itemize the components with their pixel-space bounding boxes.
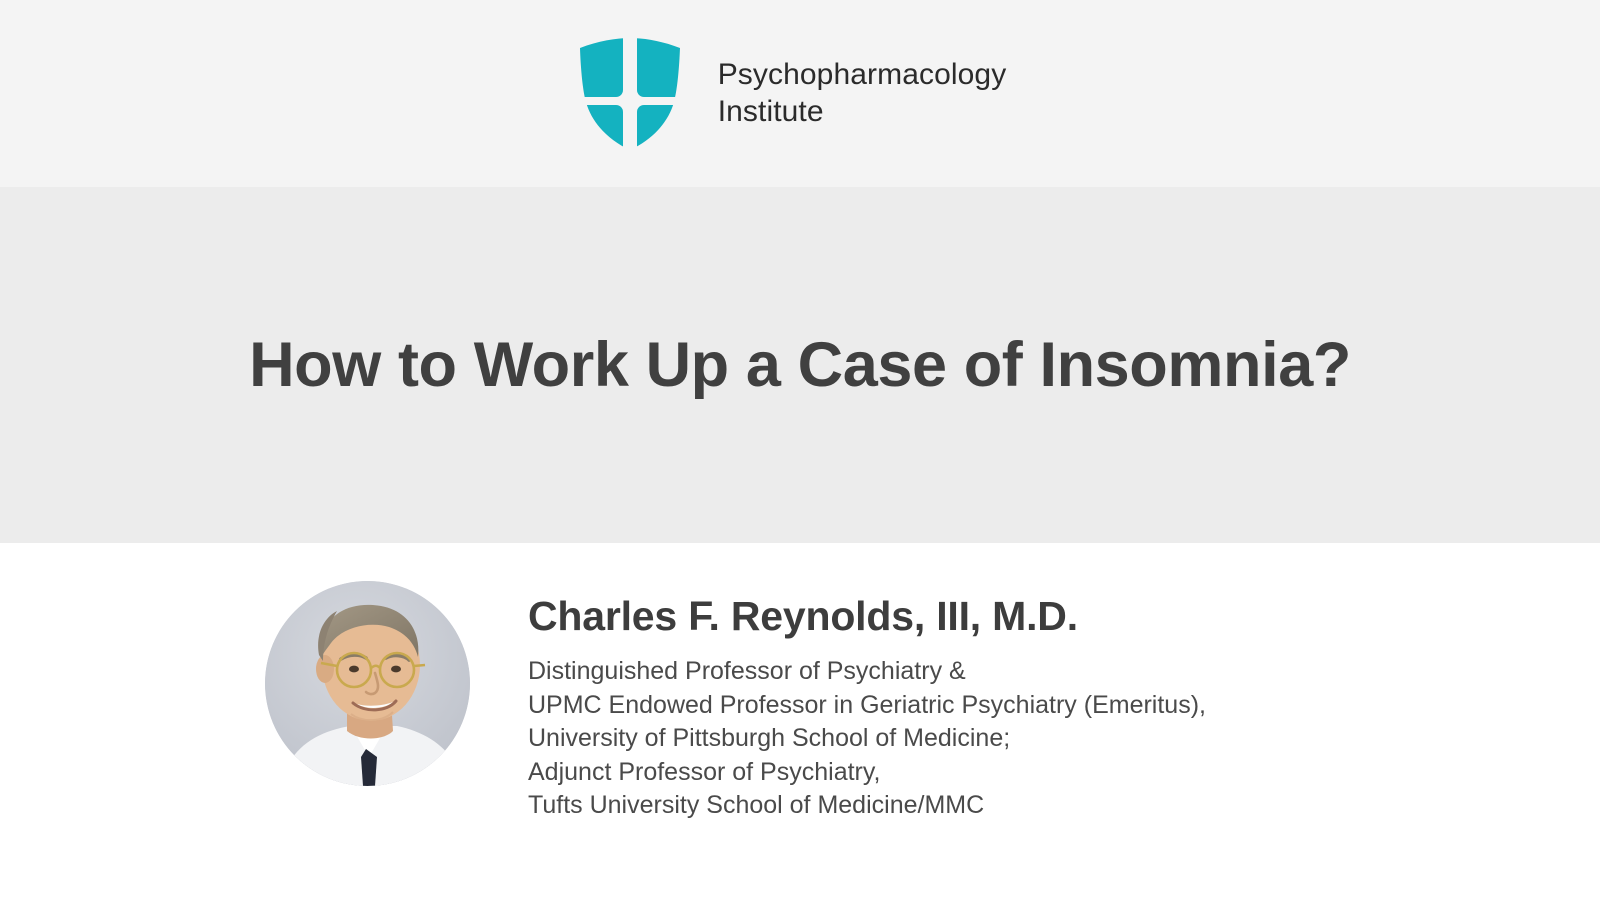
speaker-section: Charles F. Reynolds, III, M.D. Distingui… bbox=[0, 543, 1600, 899]
title-band: How to Work Up a Case of Insomnia? bbox=[0, 187, 1600, 543]
credential-line: UPMC Endowed Professor in Geriatric Psyc… bbox=[528, 689, 1206, 723]
brand-header: Psychopharmacology Institute bbox=[0, 0, 1600, 187]
title-slide: Psychopharmacology Institute How to Work… bbox=[0, 0, 1600, 899]
speaker-details: Charles F. Reynolds, III, M.D. Distingui… bbox=[528, 581, 1206, 823]
brand-wordmark: Psychopharmacology Institute bbox=[718, 57, 1007, 130]
speaker-avatar bbox=[265, 581, 470, 786]
speaker-credentials: Distinguished Professor of Psychiatry & … bbox=[528, 655, 1206, 823]
credential-line: Tufts University School of Medicine/MMC bbox=[528, 789, 1206, 823]
speaker-name: Charles F. Reynolds, III, M.D. bbox=[528, 594, 1206, 639]
brand-lockup: Psychopharmacology Institute bbox=[578, 38, 1007, 150]
brand-name-line-2: Institute bbox=[718, 94, 1007, 131]
credential-line: Distinguished Professor of Psychiatry & bbox=[528, 655, 1206, 689]
shield-quadrant-logo-icon bbox=[578, 38, 682, 150]
credential-line: Adjunct Professor of Psychiatry, bbox=[528, 756, 1206, 790]
credential-line: University of Pittsburgh School of Medic… bbox=[528, 722, 1206, 756]
page-title: How to Work Up a Case of Insomnia? bbox=[249, 330, 1351, 401]
brand-name-line-1: Psychopharmacology bbox=[718, 57, 1007, 94]
